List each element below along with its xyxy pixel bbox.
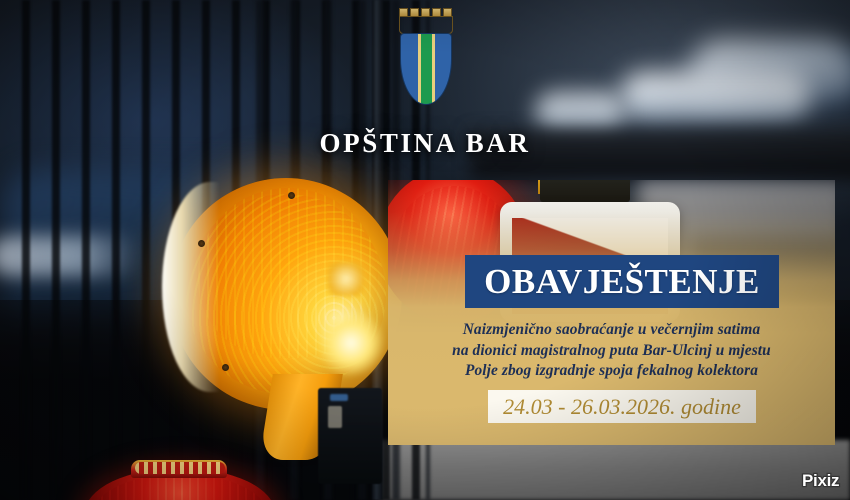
amber-lamp-bulb: [328, 262, 364, 296]
crown-wall: [399, 16, 453, 34]
shield-icon: [400, 33, 452, 105]
red-reflector-teeth: [135, 462, 225, 474]
notice-body-line-2: na dionici magistralnog puta Bar-Ulcinj …: [404, 341, 819, 362]
coat-of-arms-icon: [398, 8, 454, 106]
notice-body-line-1: Naizmjenično saobraćanje u večernjim sat…: [404, 320, 819, 341]
blurred-white-car-b: [620, 72, 810, 120]
lamp-housing-blue-chip: [330, 394, 348, 401]
notice-banner-label: OBAVJEŠTENJE: [484, 264, 760, 299]
notice-body-line-3: Polje zbog izgradnje spoja fekalnog kole…: [404, 361, 819, 382]
card-content: OBAVJEŠTENJE Naizmjenično saobraćanje u …: [388, 180, 835, 445]
amber-lamp-screw-bottom: [222, 364, 229, 371]
mural-crown-icon: [399, 8, 453, 34]
notice-banner: OBAVJEŠTENJE: [465, 255, 779, 308]
municipality-title: OPŠTINA BAR: [0, 128, 850, 159]
asphalt-road: [380, 440, 850, 500]
shield-stripe-gold-right: [432, 34, 435, 104]
notice-poster: OPŠTINA BAR OBAVJEŠTENJE Naizmjenično sa…: [0, 0, 850, 500]
blurred-white-car-c: [535, 92, 625, 132]
amber-lamp-hotspot: [316, 310, 386, 376]
amber-lamp-rim-highlight: [162, 182, 242, 392]
notice-date-box: 24.03 - 26.03.2026. godine: [488, 390, 756, 423]
notice-date-range: 24.03 - 26.03.2026. godine: [503, 396, 741, 418]
notice-body: Naizmjenično saobraćanje u večernjim sat…: [404, 320, 819, 382]
amber-lamp-screw-top: [288, 192, 295, 199]
shield-stripe-green: [421, 34, 432, 104]
amber-lamp-screw-left: [198, 240, 205, 247]
lamp-housing-label: [328, 406, 342, 428]
announcement-card: OBAVJEŠTENJE Naizmjenično saobraćanje u …: [388, 180, 835, 445]
pixiz-watermark: Pixiz: [802, 471, 839, 491]
red-reflector: [85, 460, 275, 500]
lamp-housing-base: [318, 388, 382, 484]
